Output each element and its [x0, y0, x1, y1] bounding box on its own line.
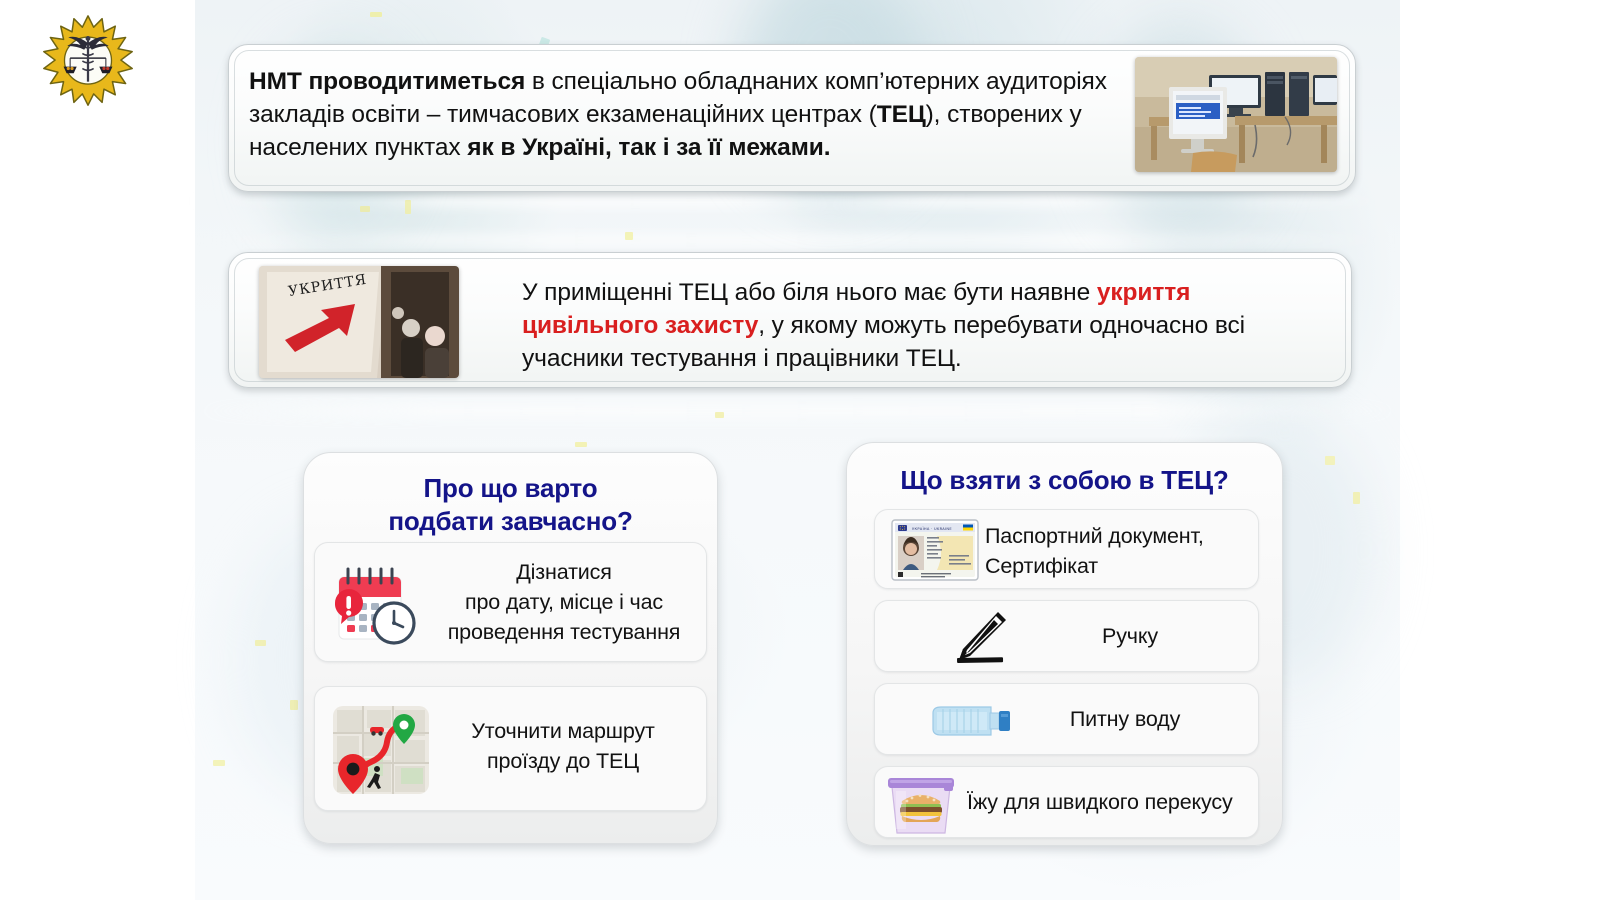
list-item-label: Ручку: [1030, 621, 1230, 651]
callout-tec-text: НМТ проводитиметься в спеціально обладна…: [249, 65, 1149, 164]
shelter-photo: УКРИТТЯ: [259, 266, 459, 378]
id-card-icon: УКРАЇНА · UKRAINE: [891, 519, 979, 581]
panel-prepare-title-line1: Про що варто: [304, 472, 717, 505]
pen-icon: [950, 608, 1010, 666]
panel-prepare-in-advance: Про що варто подбати завчасно?: [303, 452, 718, 844]
list-item-label: Питну воду: [1010, 704, 1240, 734]
list-item-label: Паспортний документ, Сертифікат: [985, 521, 1255, 581]
slide-canvas: НМТ проводитиметься в спеціально обладна…: [0, 0, 1600, 900]
caduceus-scales-sun-emblem: [40, 14, 136, 108]
list-item-clarify-route[interactable]: Уточнити маршрут проїзду до ТЕЦ: [314, 686, 707, 811]
panel-prepare-title-line2: подбати завчасно?: [304, 505, 717, 538]
callout-tec: НМТ проводитиметься в спеціально обладна…: [228, 44, 1356, 192]
panel-what-to-bring: Що взяти з собою в ТЕЦ? УКРАЇНА · UKRAIN…: [846, 442, 1283, 846]
list-item-label: Їжу для швидкого перекусу: [967, 787, 1257, 817]
panel-prepare-title: Про що варто подбати завчасно?: [304, 472, 717, 538]
callout-shelter-text: У приміщенні ТЕЦ або біля нього має бути…: [522, 276, 1322, 375]
list-item-snack-food[interactable]: Їжу для швидкого перекусу: [874, 766, 1259, 838]
callout-tec-tail: як в Україні, так і за її межами.: [467, 134, 830, 161]
callout-tec-abbr: ТЕЦ: [877, 101, 926, 128]
callout-shelter: УКРИТТЯ У приміщенні ТЕЦ або біля нього …: [228, 252, 1352, 388]
list-item-passport-certificate[interactable]: УКРАЇНА · UKRAINE: [874, 509, 1259, 589]
callout-tec-lead: НМТ проводитиметься: [249, 68, 525, 95]
callout-shelter-body-1: У приміщенні ТЕЦ або біля нього має бути…: [522, 279, 1097, 306]
list-item-drinking-water[interactable]: Питну воду: [874, 683, 1259, 755]
svg-text:УКРАЇНА · UKRAINE: УКРАЇНА · UKRAINE: [912, 526, 952, 531]
list-item-label: Уточнити маршрут проїзду до ТЕЦ: [427, 716, 699, 776]
water-bottle-icon: [927, 701, 1017, 741]
list-item-label: Дізнатися про дату, місце і час проведен…: [425, 557, 703, 647]
list-item-pen[interactable]: Ручку: [874, 600, 1259, 672]
panel-bring-title: Що взяти з собою в ТЕЦ?: [847, 464, 1282, 497]
classroom-photo: [1135, 57, 1337, 172]
lunchbox-icon: [880, 769, 962, 837]
calendar-alert-clock-icon: [331, 567, 426, 645]
list-item-find-out-date[interactable]: Дізнатися про дату, місце і час проведен…: [314, 542, 707, 662]
map-route-pin-icon: [331, 702, 431, 797]
